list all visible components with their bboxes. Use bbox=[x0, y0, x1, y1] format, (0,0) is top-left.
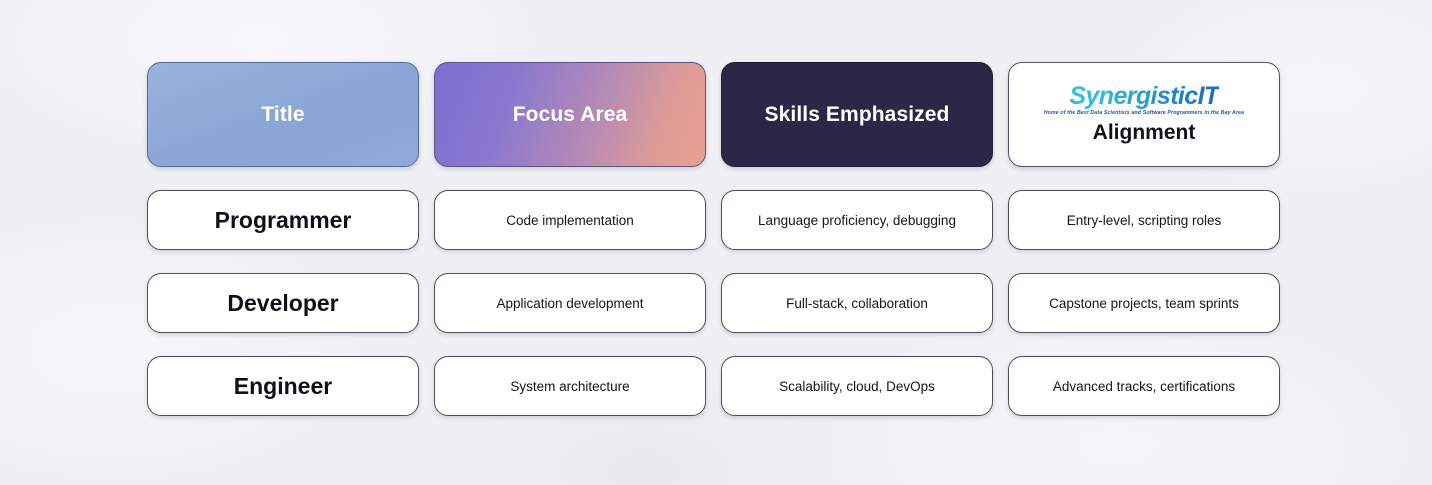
header-label-focus-area: Focus Area bbox=[513, 103, 628, 127]
cell-focus-area-programmer: Code implementation bbox=[434, 190, 706, 250]
cell-title-programmer: Programmer bbox=[147, 190, 419, 250]
header-cell-alignment: SynergisticIT Home of the Best Data Scie… bbox=[1008, 62, 1280, 167]
header-cell-skills-emphasized: Skills Emphasized bbox=[721, 62, 993, 167]
logo-tagline: Home of the Best Data Scientists and Sof… bbox=[1044, 111, 1244, 116]
table-row: Developer Application development Full-s… bbox=[147, 273, 1285, 333]
comparison-table: Title Focus Area Skills Emphasized Syner… bbox=[147, 62, 1285, 416]
header-label-title: Title bbox=[261, 103, 304, 127]
cell-focus-area-engineer: System architecture bbox=[434, 356, 706, 416]
header-cell-title: Title bbox=[147, 62, 419, 167]
cell-skills-engineer: Scalability, cloud, DevOps bbox=[721, 356, 993, 416]
cell-alignment-engineer: Advanced tracks, certifications bbox=[1008, 356, 1280, 416]
cell-focus-area-developer: Application development bbox=[434, 273, 706, 333]
synergisticit-logo: SynergisticIT Home of the Best Data Scie… bbox=[1044, 84, 1244, 116]
header-label-skills-emphasized: Skills Emphasized bbox=[765, 103, 950, 127]
table-header-row: Title Focus Area Skills Emphasized Syner… bbox=[147, 62, 1285, 167]
header-label-alignment: Alignment bbox=[1093, 121, 1196, 145]
table-row: Programmer Code implementation Language … bbox=[147, 190, 1285, 250]
cell-alignment-programmer: Entry-level, scripting roles bbox=[1008, 190, 1280, 250]
cell-skills-programmer: Language proficiency, debugging bbox=[721, 190, 993, 250]
cell-alignment-developer: Capstone projects, team sprints bbox=[1008, 273, 1280, 333]
cell-title-developer: Developer bbox=[147, 273, 419, 333]
cell-title-engineer: Engineer bbox=[147, 356, 419, 416]
logo-wordmark-icon: SynergisticIT bbox=[1069, 84, 1218, 109]
table-row: Engineer System architecture Scalability… bbox=[147, 356, 1285, 416]
header-cell-focus-area: Focus Area bbox=[434, 62, 706, 167]
cell-skills-developer: Full-stack, collaboration bbox=[721, 273, 993, 333]
